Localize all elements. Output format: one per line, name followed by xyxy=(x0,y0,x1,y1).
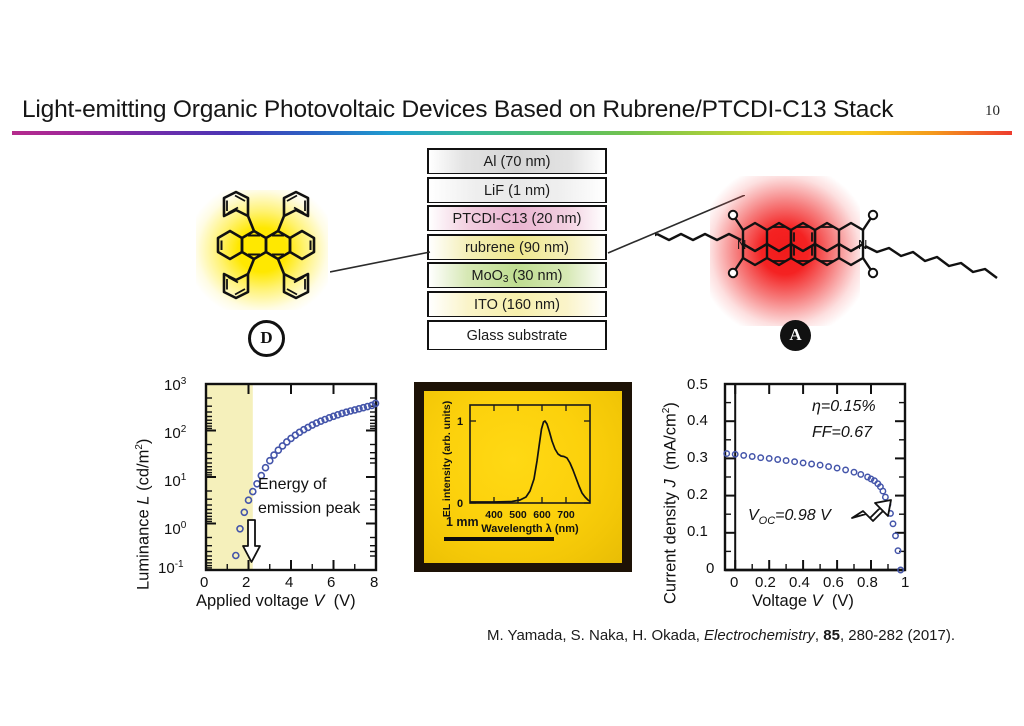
jv-xtick-0: 0 xyxy=(730,574,738,591)
acceptor-tag: A xyxy=(780,320,811,351)
lum-xtick-8: 8 xyxy=(370,574,378,591)
lum-annotation-line2: emission peak xyxy=(258,500,360,518)
oxygen-atom xyxy=(869,211,877,219)
rainbow-divider xyxy=(12,131,1012,135)
el-xtick-600: 600 xyxy=(533,509,551,521)
luminance-chart: Luminance L (cd/m2) 103 102 101 100 10-1 xyxy=(128,372,390,610)
el-y-axis-title: EL intensity (arb. units) xyxy=(441,401,453,517)
stack-layer-ito: ITO (160 nm) xyxy=(427,291,607,317)
stack-layer-lif: LiF (1 nm) xyxy=(427,177,607,203)
slide-canvas: Light-emitting Organic Photovoltaic Devi… xyxy=(0,0,1024,726)
oxygen-atom xyxy=(869,269,877,277)
el-xtick-400: 400 xyxy=(485,509,503,521)
jv-xtick-1: 1 xyxy=(901,574,909,591)
jv-x-axis-title: Voltage V (V) xyxy=(752,592,854,611)
jv-fillfactor-annotation: FF=0.67 xyxy=(812,424,872,442)
alkyl-chain-right xyxy=(865,246,997,278)
alkyl-chain-left xyxy=(657,234,741,240)
stack-layer-moo3: MoO3 (30 nm) xyxy=(427,262,607,288)
el-xtick-700: 700 xyxy=(557,509,575,521)
jv-xtick-06: 0.6 xyxy=(823,574,844,591)
donor-molecule-panel: D xyxy=(168,166,358,362)
citation-pages: , 280-282 (2017). xyxy=(840,627,955,644)
jv-xtick-08: 0.8 xyxy=(857,574,878,591)
el-ytick-0: 0 xyxy=(457,498,463,510)
stack-layer-al: Al (70 nm) xyxy=(427,148,607,174)
jv-xtick-04: 0.4 xyxy=(789,574,810,591)
el-ytick-1: 1 xyxy=(457,416,463,428)
lum-annotation-line1: Energy of xyxy=(258,476,326,494)
lum-xtick-4: 4 xyxy=(285,574,293,591)
lum-x-axis-title: Applied voltage V (V) xyxy=(196,592,356,611)
jv-voc-annotation: VOC=0.98 V xyxy=(748,507,831,527)
subscript-3: 3 xyxy=(503,274,509,285)
acceptor-molecule-panel: N N A xyxy=(655,168,1005,360)
device-emission-photo: 1 0 400 500 600 700 Wavelength λ (nm) EL… xyxy=(414,382,632,572)
oxygen-atom xyxy=(729,211,737,219)
citation-comma: , xyxy=(815,627,819,644)
el-spectrum-curve xyxy=(470,421,590,502)
voc-arrow-icon xyxy=(852,500,891,521)
device-stack-diagram: Al (70 nm) LiF (1 nm) PTCDI-C13 (20 nm) … xyxy=(427,148,607,350)
page-number: 10 xyxy=(985,103,1000,120)
jv-xtick-02: 0.2 xyxy=(755,574,776,591)
el-xtick-500: 500 xyxy=(509,509,527,521)
citation-volume: 85 xyxy=(823,627,840,644)
current-density-chart: Current density J (mA/cm2) 0.5 0.4 0.3 0… xyxy=(655,372,917,610)
rubrene-structure-icon xyxy=(168,166,358,326)
citation-text: M. Yamada, S. Naka, H. Okada, Electroche… xyxy=(487,627,955,644)
jv-efficiency-annotation: η=0.15% xyxy=(812,398,876,416)
citation-journal: Electrochemistry xyxy=(704,627,815,644)
scalebar-line xyxy=(444,537,554,542)
oxygen-atom xyxy=(729,269,737,277)
stack-layer-glass-substrate: Glass substrate xyxy=(427,320,607,350)
stack-layer-ptcdi-c13: PTCDI-C13 (20 nm) xyxy=(427,205,607,231)
lum-xtick-2: 2 xyxy=(242,574,250,591)
page-title: Light-emitting Organic Photovoltaic Devi… xyxy=(22,96,922,124)
scalebar-label: 1 mm xyxy=(446,515,479,529)
stack-layer-rubrene: rubrene (90 nm) xyxy=(427,234,607,260)
ptcdi-c13-structure-icon: N N xyxy=(655,168,1005,328)
donor-tag: D xyxy=(248,320,285,357)
el-x-axis-title: Wavelength λ (nm) xyxy=(481,523,579,535)
nitrogen-label: N xyxy=(858,237,867,252)
citation-authors: M. Yamada, S. Naka, H. Okada, xyxy=(487,627,700,644)
lum-xtick-6: 6 xyxy=(327,574,335,591)
photo-luminescent-area: 1 0 400 500 600 700 Wavelength λ (nm) EL… xyxy=(424,391,622,563)
lum-xtick-0: 0 xyxy=(200,574,208,591)
